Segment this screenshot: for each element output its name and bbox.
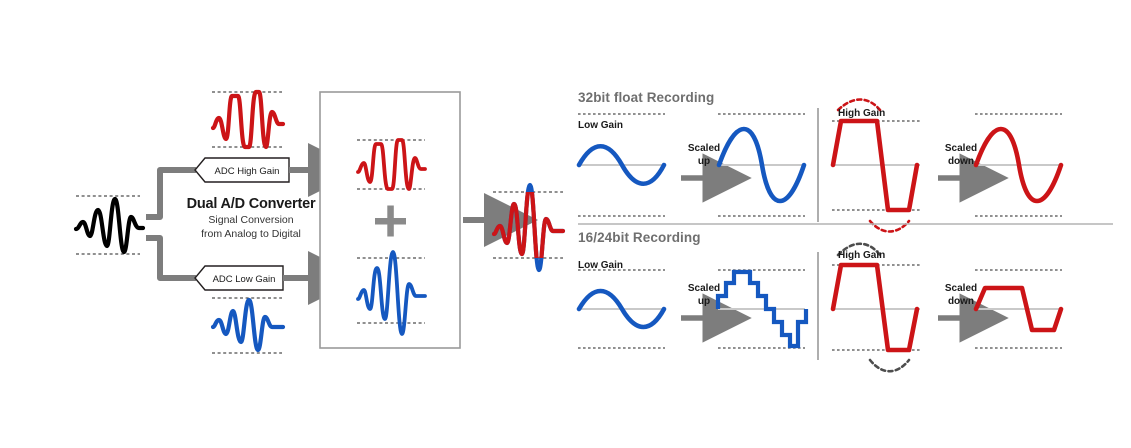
high-gain-waveform-path [213,92,283,147]
low-gain-waveform-path [213,300,283,350]
b24-high-overshoot-bottom [870,360,909,371]
f32-high-overshoot-bottom [870,221,909,232]
b24-low-scaled-line1: Scaled [676,283,732,296]
b24-high-clipped-path [833,265,917,350]
f32-high-scaled-line1: Scaled [933,143,989,156]
f32-low-scaled-line2: up [676,156,732,169]
b24-high-scaled-label: Scaled down [933,283,989,308]
f32-low-gain-label: Low Gain [578,120,623,131]
input-signal-waveform [76,196,143,254]
adc-high-gain-tag[interactable]: ADC High Gain [195,158,289,182]
dual-adc-subtitle-line1: Signal Conversion [176,214,326,228]
dual-adc-title: Dual A/D Converter [176,196,326,212]
b24-low-scaled-line2: up [676,296,732,309]
section-title-float32: 32bit float Recording [578,90,714,105]
adc-low-gain-label: ADC Low Gain [213,274,276,285]
f32-low-scaled-line1: Scaled [676,143,732,156]
dual-adc-subtitle-line2: from Analog to Digital [176,228,326,242]
b24-low-gain-label: Low Gain [578,260,623,271]
section-bit1624 [578,244,1062,372]
b24-high-gain-label: High Gain [838,250,885,261]
f32-high-scaled-line2: down [933,156,989,169]
adc-low-gain-tag[interactable]: ADC Low Gain [195,266,283,290]
f32-high-gain-label: High Gain [838,108,885,119]
b24-high-scaled-line1: Scaled [933,283,989,296]
adc-high-gain-label: ADC High Gain [215,166,280,177]
b24-low-scaled-label: Scaled up [676,283,732,308]
f32-high-scaled-label: Scaled down [933,143,989,168]
diagram-canvas: ADC High Gain ADC Low Gain [0,0,1131,448]
recording-comparison-panel [560,0,1131,448]
b24-high-scaled-line2: down [933,296,989,309]
section-title-bit1624: 16/24bit Recording [578,230,701,245]
f32-low-scaled-label: Scaled up [676,143,732,168]
high-gain-clipped-waveform [212,92,283,147]
output-red-path [494,185,563,270]
input-waveform-path [76,199,143,252]
section-float32 [578,100,1062,232]
dual-adc-subtitle: Signal Conversion from Analog to Digital [176,214,326,241]
low-gain-small-waveform [212,298,283,353]
combined-output-waveform [493,185,563,270]
